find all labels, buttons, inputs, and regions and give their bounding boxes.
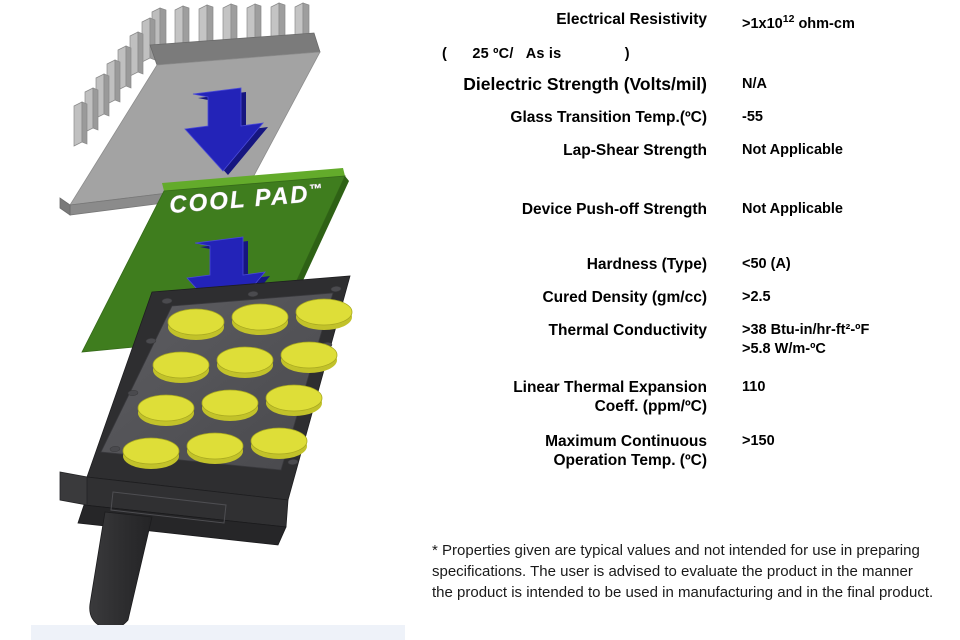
spec-label: Maximum Continuous Operation Temp. (ºC) [420,432,707,470]
cool-pad-assembly-illustration: COOL PAD™ [0,0,420,640]
spec-label: Dielectric Strength (Volts/mil) [420,75,707,94]
spec-value: Not Applicable [742,141,843,160]
contact-pad [187,433,243,464]
table-row: ( 25 ºC/ As is ) [420,45,960,64]
contact-pad [138,395,194,426]
table-row: Device Push-off Strength Not Applicable [420,200,960,219]
spec-condition-label: ( 25 ºC/ As is ) [420,45,707,64]
spec-value: >1x1012 ohm-cm [742,10,855,34]
spec-value-exponent: 12 [783,13,795,25]
contact-pad [251,428,307,459]
table-row: Electrical Resistivity >1x1012 ohm-cm [420,10,960,34]
spec-value-prefix: >1x10 [742,16,783,32]
contact-pad [296,299,352,330]
spec-value: >2.5 [742,288,771,307]
table-row: Maximum Continuous Operation Temp. (ºC) … [420,432,960,470]
contact-pad [153,352,209,383]
spec-label: Hardness (Type) [420,255,707,274]
contact-pad [202,390,258,421]
spec-label: Glass Transition Temp.(ºC) [420,108,707,127]
module-left-shoulder [60,472,87,505]
module-tab [90,512,152,629]
spec-label: Lap-Shear Strength [420,141,707,160]
table-row: Linear Thermal Expansion Coeff. (ppm/ºC)… [420,378,960,416]
spec-value: <50 (A) [742,255,791,274]
spec-label: Thermal Conductivity [420,321,707,340]
contact-pad [123,438,179,469]
spec-value-unit: ohm-cm [794,16,854,32]
table-row: Lap-Shear Strength Not Applicable [420,141,960,160]
spec-value: Not Applicable [742,200,843,219]
spec-value: >38 Btu-in/hr-ft²-ºF >5.8 W/m-ºC [742,321,869,359]
heatsink-plate-corner [60,198,70,215]
spec-label: Electrical Resistivity [420,10,707,29]
table-row: Hardness (Type) <50 (A) [420,255,960,274]
footnote-disclaimer: * Properties given are typical values an… [432,540,934,603]
table-row: Cured Density (gm/cc) >2.5 [420,288,960,307]
bottom-accent-band [31,625,405,640]
spec-value: >150 [742,432,775,451]
contact-pad [281,342,337,373]
spec-label: Linear Thermal Expansion Coeff. (ppm/ºC) [420,378,707,416]
contact-pad [217,347,273,378]
spec-value: 110 [742,378,765,397]
spec-label: Cured Density (gm/cc) [420,288,707,307]
table-row: Dielectric Strength (Volts/mil) N/A [420,75,960,94]
table-row: Thermal Conductivity >38 Btu-in/hr-ft²-º… [420,321,960,359]
spec-value: N/A [742,75,767,94]
contact-pad [232,304,288,335]
contact-pad [168,309,224,340]
spec-value: -55 [742,108,763,127]
spec-label: Device Push-off Strength [420,200,707,219]
table-row: Glass Transition Temp.(ºC) -55 [420,108,960,127]
contact-pad [266,385,322,416]
